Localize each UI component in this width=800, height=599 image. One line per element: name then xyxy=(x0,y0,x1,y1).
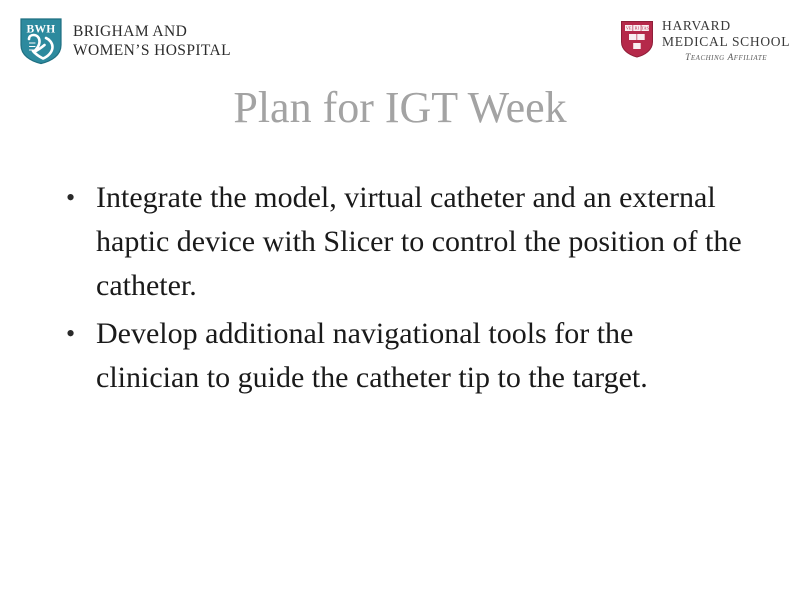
bullet-marker-icon: • xyxy=(66,312,86,356)
bullet-item: • Integrate the model, virtual catheter … xyxy=(62,176,742,308)
bwh-wordmark-line2: WOMEN’S HOSPITAL xyxy=(73,41,231,60)
svg-text:VE: VE xyxy=(626,26,632,31)
bwh-wordmark: BRIGHAM AND WOMEN’S HOSPITAL xyxy=(73,22,231,60)
hms-text-block: HARVARD MEDICAL SCHOOL Teaching Affiliat… xyxy=(662,18,790,63)
bullet-item: • Develop additional navigational tools … xyxy=(62,312,742,400)
bullet-marker-icon: • xyxy=(66,176,86,220)
hms-affiliate-label: Teaching Affiliate xyxy=(662,53,790,63)
bwh-shield-icon: BWH xyxy=(19,17,63,65)
bullet-text: Develop additional navigational tools fo… xyxy=(96,312,742,400)
hms-wordmark-line1: HARVARD xyxy=(662,18,790,34)
bwh-wordmark-line1: BRIGHAM AND xyxy=(73,22,231,41)
svg-text:TAS: TAS xyxy=(641,26,649,31)
svg-text:BWH: BWH xyxy=(26,24,55,36)
presentation-slide: BWH BRIGHAM AND WOMEN’S HOSPITAL VE RI T… xyxy=(0,0,800,599)
harvard-medical-school-logo: VE RI TAS HARVARD MEDICAL SCHOOL Teachin… xyxy=(620,18,790,63)
bullet-text: Integrate the model, virtual catheter an… xyxy=(96,176,742,308)
hms-wordmark: HARVARD MEDICAL SCHOOL xyxy=(662,18,790,50)
svg-text:RI: RI xyxy=(635,26,640,31)
harvard-shield-icon: VE RI TAS xyxy=(620,20,654,58)
hms-wordmark-line2: MEDICAL SCHOOL xyxy=(662,34,790,50)
slide-bullet-list: • Integrate the model, virtual catheter … xyxy=(62,176,742,404)
slide-title: Plan for IGT Week xyxy=(0,82,800,134)
bwh-logo: BWH BRIGHAM AND WOMEN’S HOSPITAL xyxy=(19,17,231,65)
